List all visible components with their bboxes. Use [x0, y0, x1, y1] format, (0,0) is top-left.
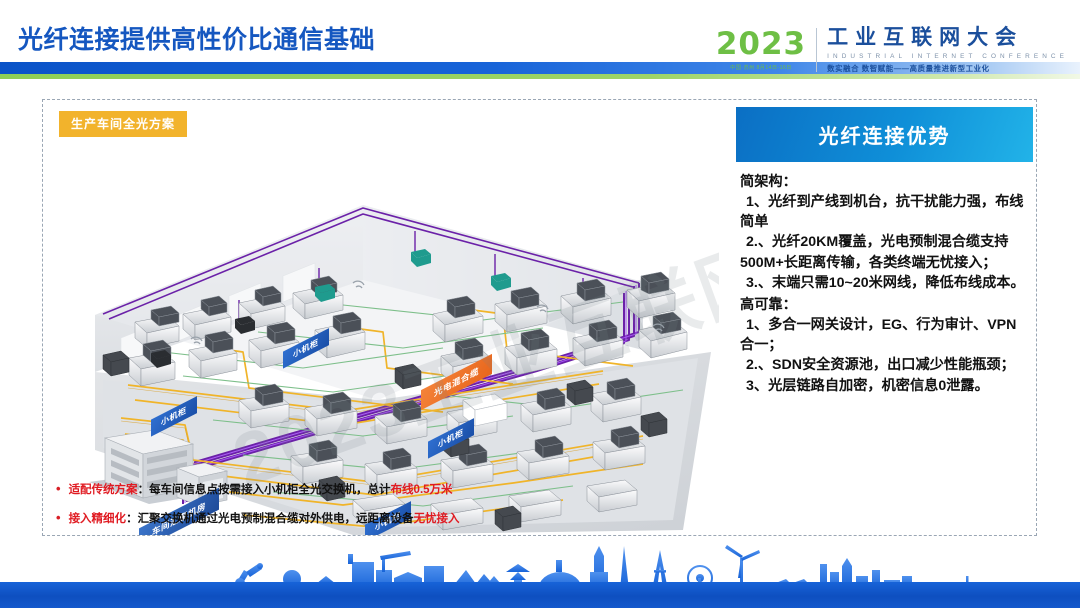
- bullet-dot-icon: •: [56, 482, 61, 495]
- diagram-artwork: [43, 100, 719, 535]
- section-tag-workshop: 生产车间全光方案: [59, 111, 187, 137]
- bullet-sep-2: ：: [126, 513, 138, 527]
- footer-band: [0, 536, 1080, 608]
- reliability-item-2: 2.、SDN安全资源池，出口减少性能瓶颈；: [740, 355, 1027, 375]
- conference-logo: 2023 中国·苏州 8月14日-16日 工业互联网大会 INDUSTRIAL …: [716, 22, 1068, 78]
- logo-slogan: 数实融合 数智赋能——高质量推进新型工业化: [827, 63, 1068, 74]
- architecture-item-1: 1、光纤到产线到机台，抗干扰能力强，布线简单: [740, 192, 1027, 232]
- page-title: 光纤连接提供高性价比通信基础: [18, 20, 375, 56]
- logo-name-en: INDUSTRIAL INTERNET CONFERENCE: [827, 53, 1068, 60]
- bullet-list: • 适配传统方案 ： 每车间信息点按需接入小机柜全光交换机，总计 布线0.5万米…: [56, 482, 716, 540]
- reliability-item-3: 3、光层链路自加密，机密信息0泄露。: [740, 376, 1027, 396]
- footer-water-band: [0, 582, 1080, 608]
- bullet-highlight-1: 布线0.5万米: [391, 484, 453, 498]
- logo-name-block: 工业互联网大会 INDUSTRIAL INTERNET CONFERENCE 数…: [827, 26, 1068, 73]
- advantages-panel-title: 光纤连接优势: [819, 120, 951, 149]
- slide-header: 光纤连接提供高性价比通信基础 2023 中国·苏州 8月14日-16日 工业互联…: [0, 0, 1080, 96]
- bullet-body-2: 汇聚交换机通过光电预制混合缆对外供电，远距离设备: [138, 513, 414, 527]
- slide-root: 光纤连接提供高性价比通信基础 2023 中国·苏州 8月14日-16日 工业互联…: [0, 0, 1080, 608]
- bullet-lead-1: 适配传统方案: [69, 484, 138, 498]
- section-heading-architecture: 简架构：: [740, 172, 1027, 192]
- bullet-dot-icon: •: [56, 511, 61, 524]
- logo-date-line: 中国·苏州 8月14日-16日: [730, 64, 792, 71]
- advantages-panel-body: 简架构： 1、光纤到产线到机台，抗干扰能力强，布线简单 2.、光纤20KM覆盖，…: [736, 162, 1033, 396]
- list-item: • 接入精细化 ： 汇聚交换机通过光电预制混合缆对外供电，远距离设备 无忧接入: [56, 511, 716, 527]
- logo-divider: [816, 28, 817, 72]
- advantages-panel: 光纤连接优势 简架构： 1、光纤到产线到机台，抗干扰能力强，布线简单 2.、光纤…: [736, 107, 1033, 529]
- logo-year: 2023: [716, 29, 806, 60]
- bullet-body-1: 每车间信息点按需接入小机柜全光交换机，总计: [149, 484, 391, 498]
- logo-name-cn: 工业互联网大会: [827, 26, 1068, 50]
- bullet-highlight-2: 无忧接入: [414, 513, 460, 527]
- list-item: • 适配传统方案 ： 每车间信息点按需接入小机柜全光交换机，总计 布线0.5万米: [56, 482, 716, 498]
- architecture-item-3: 3.、末端只需10~20米网线，降低布线成本。: [740, 273, 1027, 293]
- reliability-item-1: 1、多合一网关设计，EG、行为审计、VPN合一；: [740, 315, 1027, 355]
- advantages-panel-header: 光纤连接优势: [736, 107, 1033, 162]
- bullet-lead-2: 接入精细化: [69, 513, 127, 527]
- factory-isometric-diagram: 生产车间全光方案 小机柜 小机柜 小机柜 小机柜 光电混合缆 车间汇聚机房 20…: [43, 100, 719, 535]
- bullet-sep-1: ：: [138, 484, 150, 498]
- logo-year-block: 2023 中国·苏州 8月14日-16日: [716, 29, 816, 71]
- architecture-item-2: 2.、光纤20KM覆盖，光电预制混合缆支持500M+长距离传输，各类终端无忧接入…: [740, 232, 1027, 272]
- section-heading-reliability: 高可靠：: [740, 295, 1027, 315]
